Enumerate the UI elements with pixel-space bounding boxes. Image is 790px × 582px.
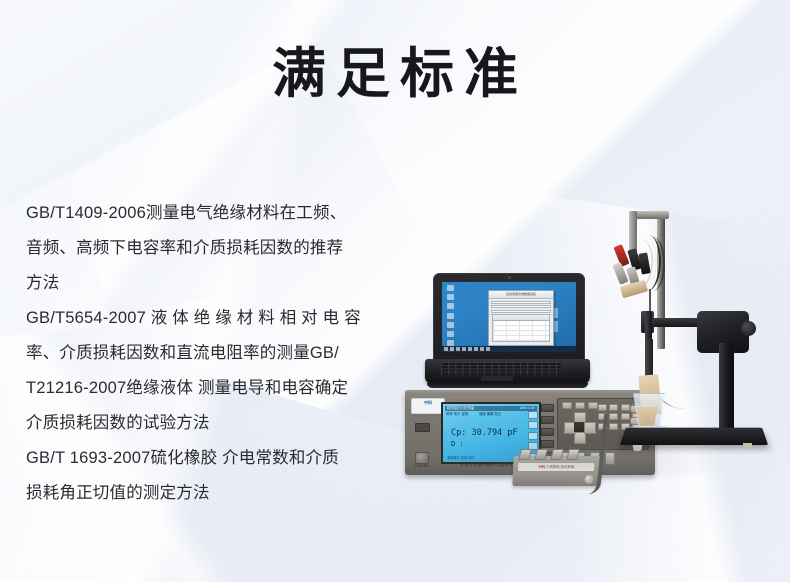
- keypad-key[interactable]: [609, 404, 618, 411]
- function-key[interactable]: [562, 402, 572, 409]
- laptop-base: [425, 359, 590, 384]
- softkey[interactable]: [541, 404, 554, 412]
- poster-root: 满足标准 GB/T1409-2006测量电气绝缘材料在工频、 音频、高频下电容率…: [0, 0, 790, 582]
- laptop-front-edge: [427, 383, 588, 388]
- standards-list: GB/T1409-2006测量电气绝缘材料在工频、 音频、高频下电容率和介质损耗…: [26, 196, 426, 511]
- laptop-trackpad: [481, 376, 513, 381]
- brand-badge: 中科: [411, 398, 445, 414]
- standards-line: GB/T 1693-2007硫化橡胶 介电常数和介质: [26, 441, 426, 476]
- standards-line: 音频、高频下电容率和介质损耗因数的推荐: [26, 231, 426, 266]
- laptop-lid: 自动测量系统数据采集: [433, 273, 585, 363]
- keypad-key[interactable]: [609, 423, 618, 430]
- page-title: 满足标准: [0, 42, 790, 106]
- webcam-icon: [508, 276, 511, 279]
- fixture-pin-row: [519, 449, 578, 460]
- power-button[interactable]: [415, 452, 429, 464]
- fixture-label: 中科 介质损耗 测试夹具: [518, 463, 594, 471]
- laptop-screen: 自动测量系统数据采集: [442, 282, 576, 352]
- app-toolbar-field: [491, 310, 551, 313]
- meter-top-edge: [405, 390, 655, 395]
- fixture-label-text: 介质损耗 测试夹具: [546, 465, 574, 469]
- stand-foot: [633, 445, 642, 451]
- fixture-label-brand: 中科: [538, 465, 545, 469]
- usb-port: [415, 423, 430, 432]
- app-toolbar-field: [491, 301, 551, 304]
- power-button-label: POWER: [411, 464, 433, 468]
- display-status-bar: 1kHz 1.0V 精密阻抗分析测量: [445, 406, 537, 411]
- keypad-key[interactable]: [598, 404, 607, 411]
- display-primary-reading: Cp: 30.794 pF: [451, 428, 518, 438]
- app-data-grid: [492, 314, 550, 342]
- standards-line: 介质损耗因数的试验方法: [26, 406, 426, 441]
- product-photo: 自动测量系统数据采集: [395, 185, 790, 545]
- display-status-right: 1kHz 1.0V: [519, 406, 537, 411]
- direction-pad[interactable]: [564, 412, 594, 442]
- standards-line: GB/T1409-2006测量电气绝缘材料在工频、: [26, 196, 426, 231]
- app-toolbar-field: [491, 305, 551, 308]
- standards-line: 损耗角正切值的测定方法: [26, 476, 426, 511]
- app-toolbar: [489, 299, 553, 315]
- softkey[interactable]: [541, 428, 554, 436]
- desktop-icons: [445, 285, 461, 352]
- dpad-center-button[interactable]: [574, 422, 584, 432]
- function-key[interactable]: [575, 402, 585, 409]
- meter-function-keys[interactable]: [562, 402, 598, 409]
- stand-column: [719, 343, 734, 435]
- stand-adjust-knob: [741, 321, 756, 336]
- app-window-title: 自动测量系统数据采集: [489, 291, 553, 299]
- electrode-test-stand: [623, 193, 773, 483]
- display-params-left: 频率 电平 量程: [446, 412, 468, 417]
- app-data-grid-header: [493, 315, 549, 321]
- display-params-right: 速度 偏置 校正: [479, 412, 501, 417]
- taskbar: [442, 346, 576, 352]
- standards-line: 率、介质损耗因数和直流电阻率的测量GB/: [26, 336, 426, 371]
- laptop-keyboard: [441, 362, 561, 375]
- bnc-terminal[interactable]: [605, 452, 615, 465]
- softkey[interactable]: [541, 416, 554, 424]
- function-key[interactable]: [588, 402, 598, 409]
- fixture-pin: [518, 449, 532, 460]
- standards-line: GB/T5654-2007 液 体 绝 缘 材 料 相 对 电 容: [26, 301, 426, 336]
- measurement-software-window: 自动测量系统数据采集: [488, 290, 554, 346]
- fixture-pin: [534, 449, 548, 460]
- stand-foot: [743, 443, 752, 449]
- keypad-key[interactable]: [609, 413, 618, 420]
- display-footer-note: 测量条件 自动 平均: [447, 456, 474, 460]
- display-status-left: 精密阻抗分析测量: [447, 406, 474, 410]
- standards-line: T21216-2007绝缘液体 测量电导和电容确定: [26, 371, 426, 406]
- display-secondary-reading: D :: [451, 440, 464, 448]
- fixture-pin: [550, 449, 564, 460]
- standards-line: 方法: [26, 266, 426, 301]
- softkey[interactable]: [541, 440, 554, 448]
- laptop: 自动测量系统数据采集: [425, 273, 590, 388]
- fixture-pin: [566, 449, 580, 460]
